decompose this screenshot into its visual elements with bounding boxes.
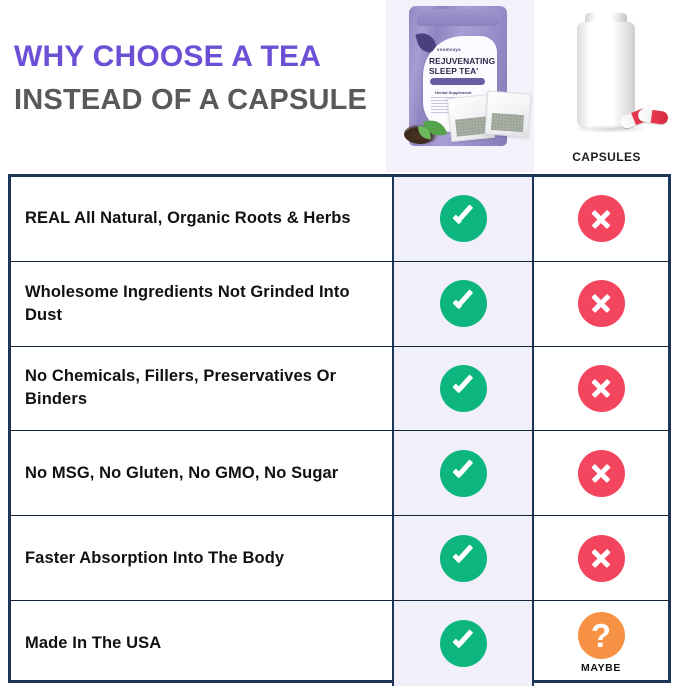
cross-icon bbox=[578, 195, 625, 242]
check-icon bbox=[440, 195, 487, 242]
pouch-label-subtitle: Herbal Supplement bbox=[435, 90, 471, 95]
capsule-column-cell bbox=[534, 431, 668, 515]
table-row: No MSG, No Gluten, No GMO, No Sugar bbox=[11, 431, 668, 516]
check-glyph bbox=[451, 207, 475, 231]
tea-column-cell bbox=[392, 431, 534, 515]
capsule-product-photo: CAPSULES bbox=[534, 0, 679, 172]
bottle-body-graphic bbox=[577, 22, 635, 129]
feature-label: Faster Absorption Into The Body bbox=[11, 516, 392, 600]
feature-label: Wholesome Ingredients Not Grinded Into D… bbox=[11, 262, 392, 346]
capsule-column-cell bbox=[534, 347, 668, 431]
maybe-label: MAYBE bbox=[581, 662, 621, 674]
tea-column-cell bbox=[392, 347, 534, 431]
headline-block: WHY CHOOSE A TEA INSTEAD OF A CAPSULE bbox=[14, 38, 384, 119]
headline-line-1: WHY CHOOSE A TEA bbox=[14, 38, 384, 76]
brand-name: voomvaya bbox=[437, 47, 461, 52]
question-icon: ? bbox=[578, 612, 625, 659]
capsule-column-cell: ?MAYBE bbox=[534, 601, 668, 686]
check-icon bbox=[440, 280, 487, 327]
pouch-seal-top bbox=[417, 9, 499, 26]
cross-icon bbox=[578, 280, 625, 327]
capsule-column-cell bbox=[534, 262, 668, 346]
check-icon bbox=[440, 450, 487, 497]
capsule-column-cell bbox=[534, 516, 668, 600]
bottle-shadow bbox=[572, 125, 650, 133]
check-icon bbox=[440, 620, 487, 667]
check-icon bbox=[440, 535, 487, 582]
pouch-label-flavor-badge bbox=[430, 78, 485, 85]
feature-label: REAL All Natural, Organic Roots & Herbs bbox=[11, 177, 392, 261]
header-section: WHY CHOOSE A TEA INSTEAD OF A CAPSULE vo… bbox=[0, 0, 679, 172]
feature-label: No Chemicals, Fillers, Preservatives Or … bbox=[11, 347, 392, 431]
table-row: Wholesome Ingredients Not Grinded Into D… bbox=[11, 262, 668, 347]
table-row: Faster Absorption Into The Body bbox=[11, 516, 668, 601]
cross-icon bbox=[578, 535, 625, 582]
cross-icon bbox=[578, 450, 625, 497]
cross-icon bbox=[578, 365, 625, 412]
question-glyph: ? bbox=[591, 619, 611, 652]
cross-glyph bbox=[590, 547, 612, 569]
cross-glyph bbox=[590, 462, 612, 484]
cross-glyph bbox=[590, 377, 612, 399]
capsule-column-cell bbox=[534, 177, 668, 261]
capsule-column-caption: CAPSULES bbox=[534, 150, 679, 164]
feature-label: No MSG, No Gluten, No GMO, No Sugar bbox=[11, 431, 392, 515]
tea-column-cell bbox=[392, 262, 534, 346]
loose-herbs-graphic bbox=[404, 118, 450, 146]
check-glyph bbox=[451, 461, 475, 485]
comparison-table: REAL All Natural, Organic Roots & HerbsW… bbox=[8, 174, 671, 683]
check-glyph bbox=[451, 376, 475, 400]
tea-column-cell bbox=[392, 516, 534, 600]
table-row: REAL All Natural, Organic Roots & Herbs bbox=[11, 177, 668, 262]
cross-glyph bbox=[590, 208, 612, 230]
pouch-label-title-line2: SLEEP TEA' bbox=[429, 66, 478, 76]
tea-column-cell bbox=[392, 601, 534, 686]
table-row: No Chemicals, Fillers, Preservatives Or … bbox=[11, 347, 668, 432]
check-glyph bbox=[451, 292, 475, 316]
headline-line-2: INSTEAD OF A CAPSULE bbox=[14, 81, 384, 119]
check-glyph bbox=[451, 631, 475, 655]
check-glyph bbox=[451, 546, 475, 570]
pouch-label-title: REJUVENATING SLEEP TEA' bbox=[429, 57, 495, 76]
table-row: Made In The USA?MAYBE bbox=[11, 601, 668, 686]
tea-bag-graphic bbox=[485, 91, 532, 138]
check-icon bbox=[440, 365, 487, 412]
feature-label: Made In The USA bbox=[11, 601, 392, 686]
cross-glyph bbox=[590, 293, 612, 315]
tea-bag-fill bbox=[491, 113, 524, 132]
tea-column-cell bbox=[392, 177, 534, 261]
pouch-label-title-line1: REJUVENATING bbox=[429, 56, 495, 66]
tea-product-photo: voomvaya REJUVENATING SLEEP TEA' Herbal … bbox=[386, 0, 534, 172]
